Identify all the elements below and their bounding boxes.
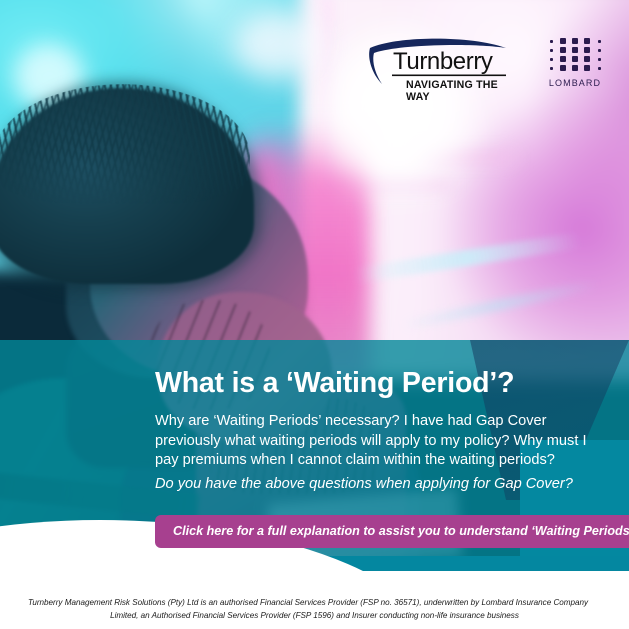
legal-disclaimer: Turnberry Management Risk Solutions (Pty…	[0, 596, 629, 622]
hero-body-copy: Why are ‘Waiting Periods’ necessary? I h…	[155, 412, 605, 494]
waiting-periods-explanation-button[interactable]: Click here for a full explanation to ass…	[155, 515, 629, 548]
hero-body-italic-question: Do you have the above questions when app…	[155, 475, 605, 495]
legal-disclaimer-line-1: Turnberry Management Risk Solutions (Pty…	[0, 596, 629, 609]
hero-body-line-2: previously what waiting periods will app…	[155, 433, 578, 449]
logo-lockup: Turnberry NAVIGATING THE WAY LOMBARD	[366, 34, 606, 96]
photo-subject-hair-texture	[0, 84, 250, 204]
lombard-wordmark: LOMBARD	[544, 78, 606, 88]
turnberry-logo[interactable]: Turnberry NAVIGATING THE WAY	[366, 34, 516, 96]
hero-section: Turnberry NAVIGATING THE WAY LOMBARD Wha…	[0, 0, 629, 571]
lombard-logo[interactable]: LOMBARD	[544, 36, 606, 94]
hero-body-line-1: Why are ‘Waiting Periods’ necessary? I h…	[155, 413, 547, 429]
page-title: What is a ‘Waiting Period’?	[155, 366, 605, 400]
lombard-dot-grid-icon	[546, 36, 604, 74]
hero-copy-block: What is a ‘Waiting Period’? Why are ‘Wai…	[155, 366, 605, 494]
turnberry-tagline: NAVIGATING THE WAY	[406, 79, 516, 103]
legal-disclaimer-line-2: Limited, an Authorised Financial Service…	[0, 609, 629, 622]
gap-cover-waiting-period-banner: Turnberry NAVIGATING THE WAY LOMBARD Wha…	[0, 0, 629, 629]
turnberry-wordmark: Turnberry	[393, 49, 493, 75]
photo-bokeh-three	[232, 10, 324, 80]
